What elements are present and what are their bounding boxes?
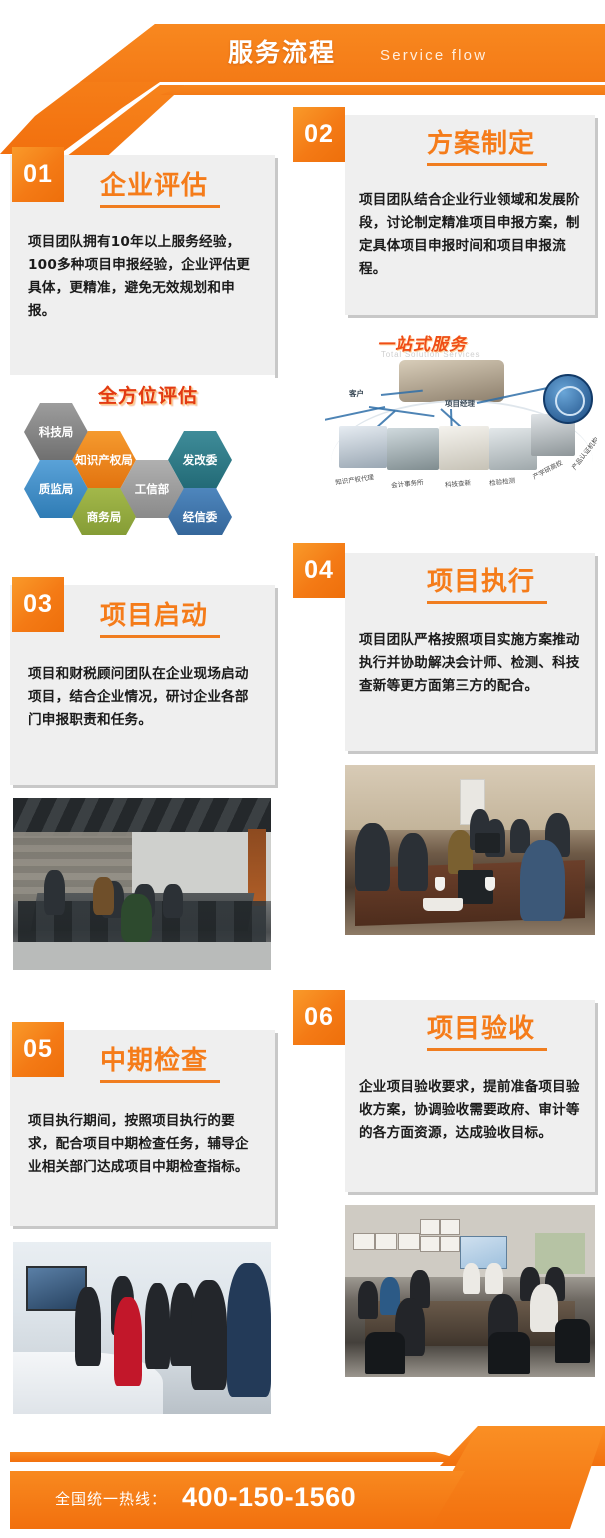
chair	[488, 1332, 531, 1373]
page-subtitle: Service flow	[380, 41, 487, 71]
person	[75, 1287, 101, 1366]
step-number-badge: 04	[293, 543, 345, 598]
title-underline	[427, 601, 547, 604]
oss-partner-label-2: 科技查新	[445, 477, 472, 489]
oss-certification-seal	[543, 374, 593, 424]
page-footer: 全国统一热线： 400-150-1560	[0, 1416, 605, 1538]
certificate-frame	[440, 1236, 460, 1252]
card-title: 项目执行	[427, 561, 535, 598]
person	[355, 823, 390, 891]
oss-thumb-search	[439, 426, 489, 470]
oss-partner-label-1: 会计事务所	[391, 476, 424, 489]
paper-cup	[485, 877, 495, 891]
title-underline	[100, 635, 220, 638]
step-number-badge: 06	[293, 990, 345, 1045]
title-underline	[427, 163, 547, 166]
ceiling	[13, 798, 271, 836]
oss-team-photo	[399, 360, 504, 402]
person	[121, 894, 152, 942]
card-title: 项目启动	[100, 595, 208, 632]
person	[93, 877, 114, 915]
title-underline	[100, 1080, 220, 1083]
step-number-badge: 03	[12, 577, 64, 632]
card-title: 中期检查	[100, 1040, 208, 1077]
one-stop-service-image: 一站式服务 Total Solution Services 客户 项目经理 知识…	[325, 322, 597, 512]
oss-label-project-manager: 项目经理	[445, 398, 475, 409]
page-header: 服务流程 Service flow	[0, 0, 605, 120]
certificate-frame	[398, 1233, 420, 1250]
hotline-number[interactable]: 400-150-1560	[182, 1482, 356, 1513]
oss-thumb-ip	[339, 426, 387, 468]
card-description: 项目团队严格按照项目实施方案推动执行并协助解决会计师、检测、科技查新等更方面第三…	[359, 629, 581, 698]
hotline-label: 全国统一热线：	[55, 1488, 167, 1509]
step-card-02: 02 方案制定 项目团队结合企业行业领域和发展阶段，讨论制定精准项目申报方案，制…	[345, 115, 595, 315]
certificate-frame	[353, 1233, 375, 1250]
certificate-frame	[420, 1219, 440, 1235]
hex-diagram-title: 全方位评估	[98, 381, 198, 408]
card-description: 项目和财税顾问团队在企业现场启动项目，结合企业情况，研讨企业各部门申报职责和任务…	[28, 663, 256, 732]
person	[448, 830, 473, 874]
step-number-badge: 05	[12, 1022, 64, 1077]
meeting-room-photo	[13, 798, 271, 970]
laptop	[475, 833, 500, 853]
person-red-coat	[114, 1297, 142, 1386]
title-underline	[427, 1048, 547, 1051]
paper-cup	[435, 877, 445, 891]
certificate-frame	[375, 1233, 397, 1250]
showroom-visit-photo	[13, 1242, 271, 1414]
oss-partner-label-0: 知识产权代理	[334, 471, 374, 486]
step-card-06: 06 项目验收 企业项目验收要求，提前准备项目验收方案，协调验收需要政府、审计等…	[345, 1000, 595, 1192]
oss-partner-label-3: 检验检测	[489, 475, 516, 488]
card-description: 项目执行期间，按照项目执行的要求，配合项目中期检查任务，辅导企业相关部门达成项目…	[28, 1110, 256, 1179]
chair	[365, 1332, 405, 1373]
person	[227, 1263, 271, 1397]
person	[44, 870, 65, 915]
step-card-01: 01 企业评估 项目团队拥有10年以上服务经验，100多种项目申报经验，企业评估…	[10, 155, 275, 375]
documents	[423, 898, 463, 912]
card-title: 项目验收	[427, 1008, 535, 1045]
step-number-badge: 02	[293, 107, 345, 162]
oss-subtitle: Total Solution Services	[381, 350, 480, 359]
chair	[555, 1319, 590, 1364]
step-card-04: 04 项目执行 项目团队严格按照项目实施方案推动执行并协助解决会计师、检测、科技…	[345, 553, 595, 751]
oss-thumb-testing	[489, 428, 537, 470]
person	[485, 1263, 503, 1294]
oss-label-client: 客户	[349, 388, 364, 399]
oss-thumb-accounting	[387, 428, 439, 470]
person	[163, 884, 184, 918]
title-underline	[100, 205, 220, 208]
card-description: 项目团队拥有10年以上服务经验，100多种项目申报经验，企业评估更具体，更精准，…	[28, 231, 256, 323]
card-description: 项目团队结合企业行业领域和发展阶段，讨论制定精准项目申报方案，制定具体项目申报时…	[359, 189, 581, 281]
step-card-03: 03 项目启动 项目和财税顾问团队在企业现场启动项目，结合企业情况，研讨企业各部…	[10, 585, 275, 785]
certificate-frame	[420, 1236, 440, 1252]
laptop-meeting-photo	[345, 765, 595, 935]
step-number-badge: 01	[12, 147, 64, 202]
card-title: 企业评估	[100, 165, 208, 202]
person	[530, 1284, 558, 1332]
person	[358, 1281, 378, 1319]
person	[191, 1280, 227, 1390]
card-description: 企业项目验收要求，提前准备项目验收方案，协调验收需要政府、审计等的各方面资源，达…	[359, 1076, 581, 1145]
page-title: 服务流程	[228, 32, 336, 74]
step-card-05: 05 中期检查 项目执行期间，按照项目执行的要求，配合项目中期检查任务，辅导企业…	[10, 1030, 275, 1226]
floor	[13, 942, 271, 970]
person	[145, 1283, 171, 1369]
person	[520, 840, 565, 922]
service-flow-infographic: 服务流程 Service flow 01 企业评估 项目团队拥有10年以上服务经…	[0, 0, 605, 1538]
person	[398, 833, 428, 891]
certificate-frame	[440, 1219, 460, 1235]
hex-diagram: 全方位评估 科技局 知识产权局 发改委 质监局 工信部 经信委 商务局	[10, 375, 275, 535]
card-title: 方案制定	[427, 123, 535, 160]
person	[463, 1263, 481, 1294]
acceptance-meeting-photo	[345, 1205, 595, 1377]
